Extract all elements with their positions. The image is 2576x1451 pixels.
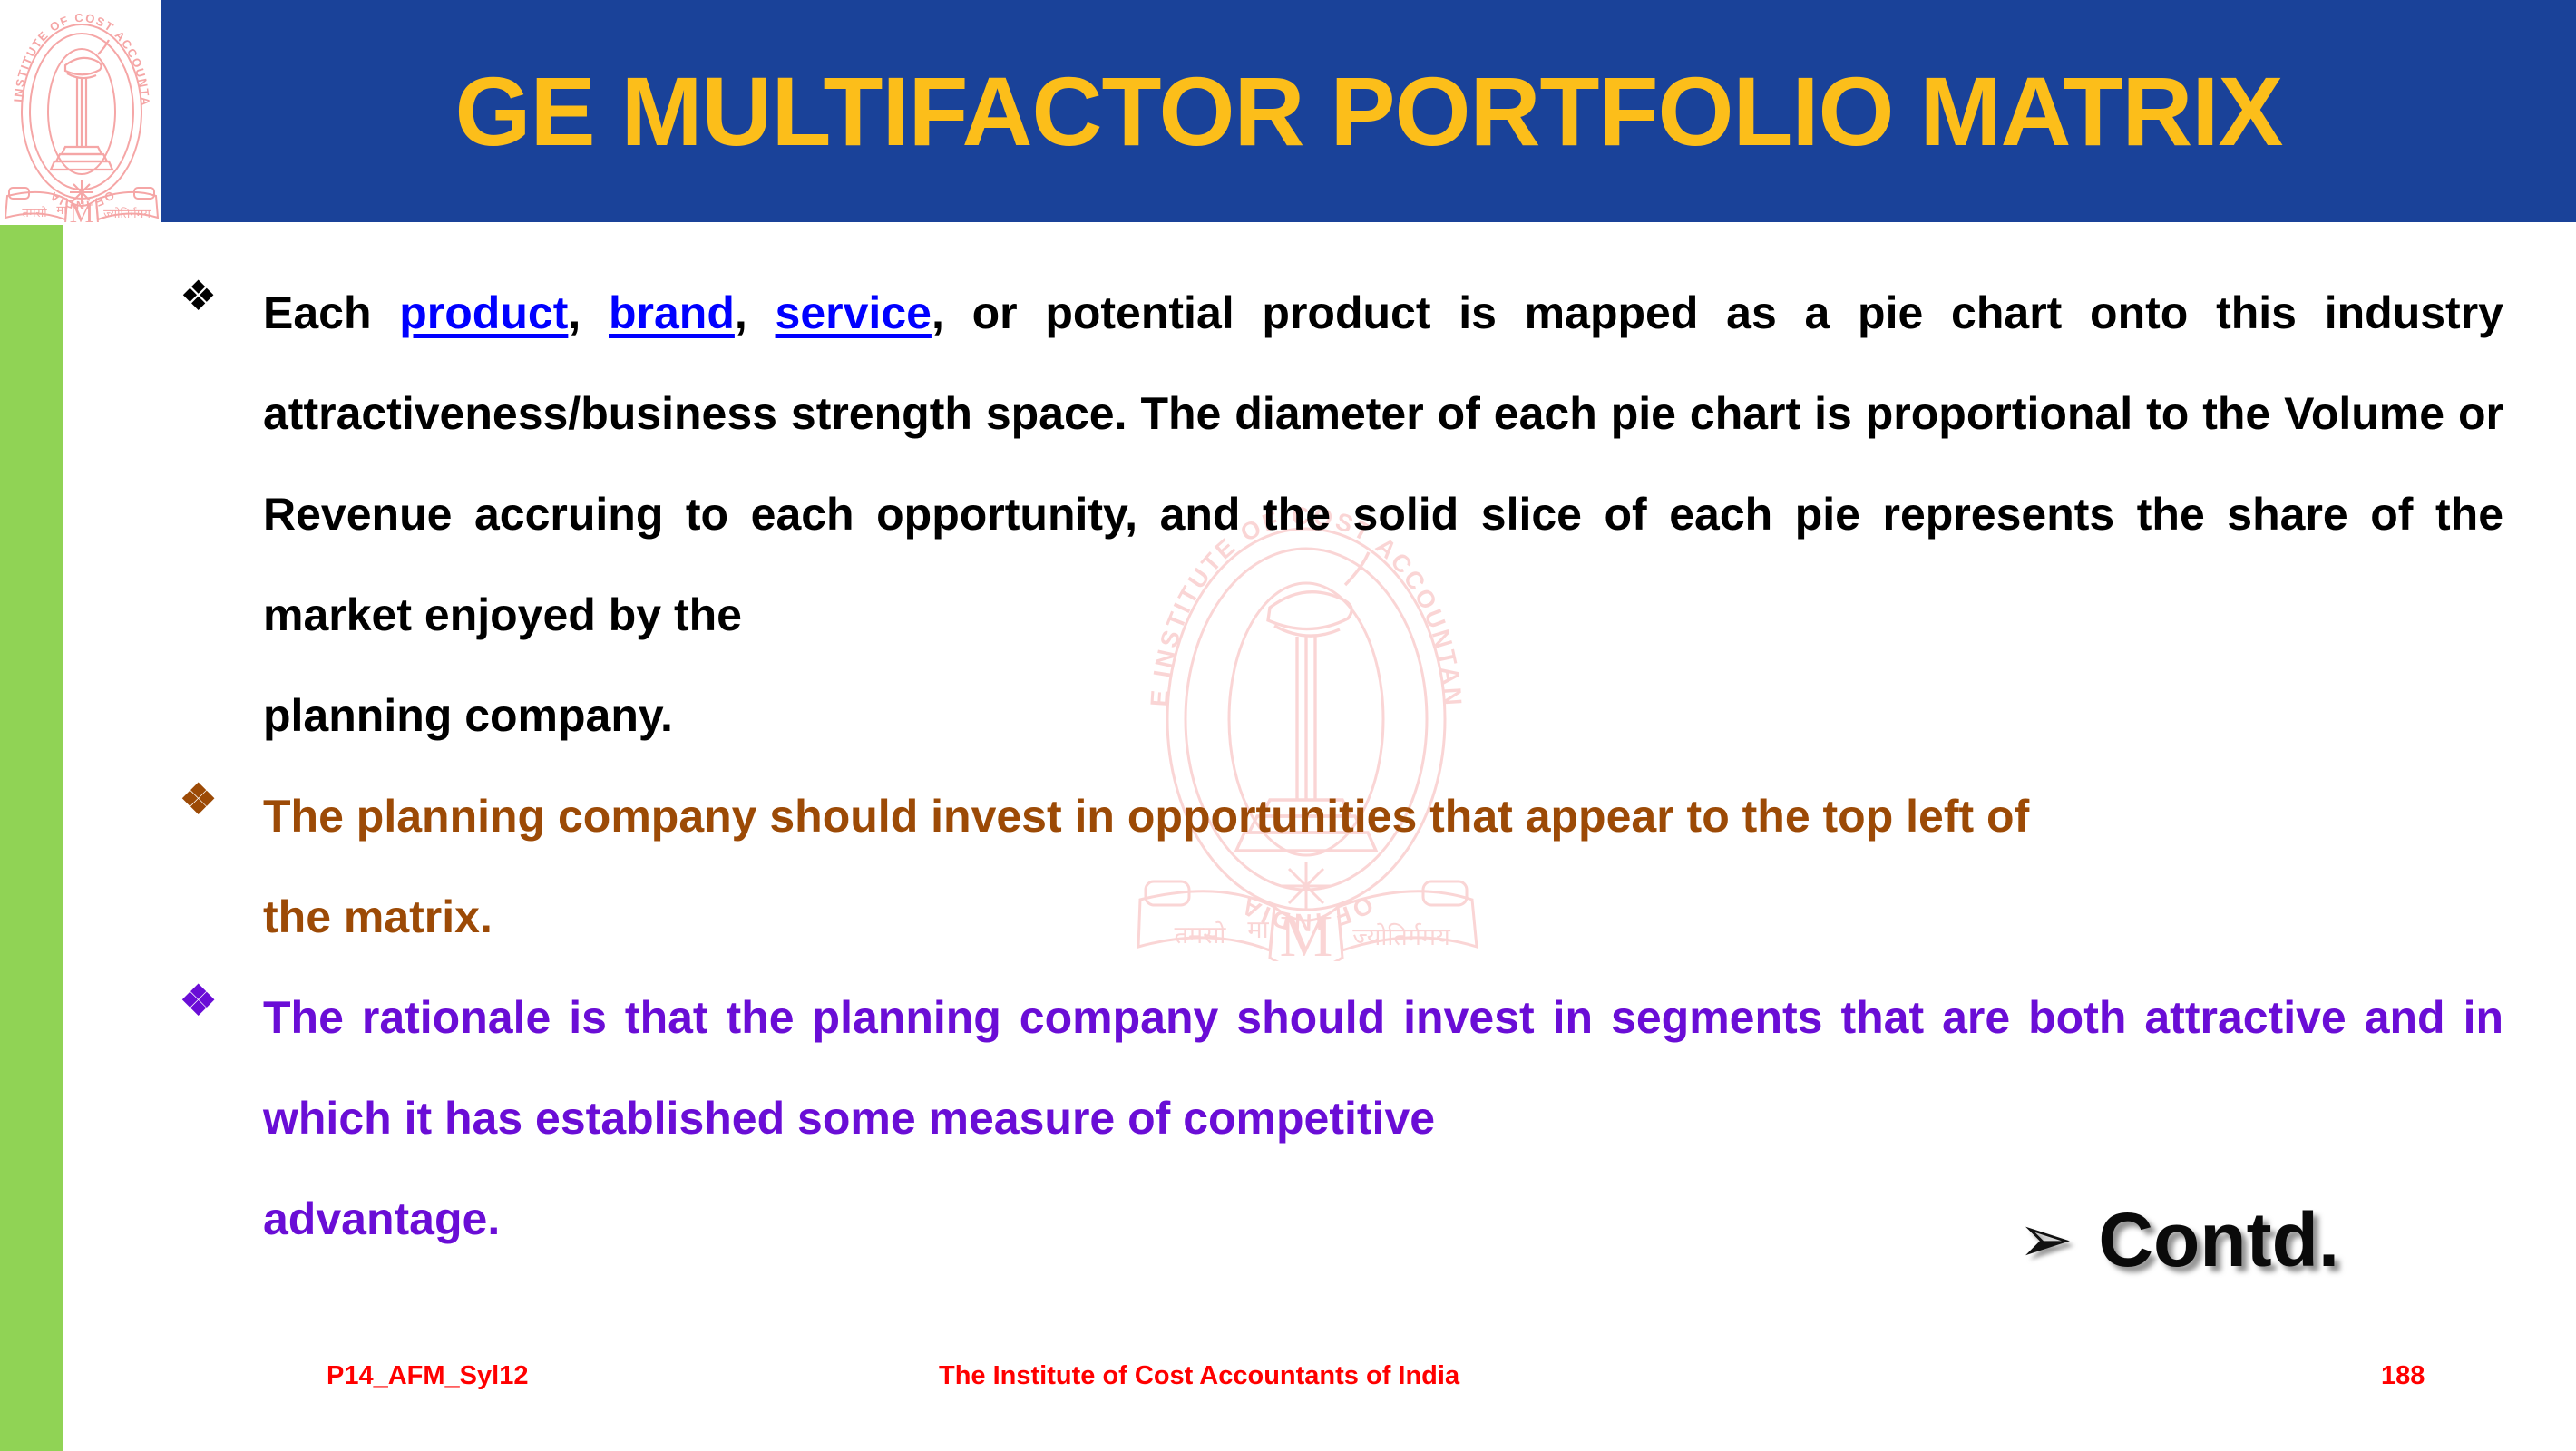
continued-indicator: ➢ Contd. — [2018, 1202, 2339, 1278]
continued-label: Contd. — [2098, 1202, 2339, 1278]
footer-organization: The Institute of Cost Accountants of Ind… — [939, 1361, 1459, 1391]
bullet2-seg-0: The planning company should invest in op… — [263, 791, 2029, 842]
logo-banner-left: तमसो — [22, 206, 47, 219]
footer: P14_AFM_Syl12 The Institute of Cost Acco… — [0, 1356, 2576, 1406]
bullet1-seg-4: , — [735, 287, 776, 338]
bullet-item-2: ❖ The planning company should invest in … — [172, 766, 2503, 968]
arrow-right-icon: ➢ — [2018, 1207, 2073, 1272]
bullet-marker-icon: ❖ — [172, 263, 263, 328]
bullet-item-1: ❖ Each product, brand, service, or poten… — [172, 263, 2503, 766]
bullet1-tail: planning company. — [263, 666, 2503, 766]
logo-banner-mid: मा — [56, 203, 67, 217]
bullet1-seg-2: , — [568, 287, 609, 338]
page-title: GE MULTIFACTOR PORTFOLIO MATRIX — [161, 0, 2576, 222]
bullet1-seg-6: , or potential product is mapped as a pi… — [263, 287, 2503, 640]
logo-banner-letter: M — [70, 199, 94, 222]
footer-page-number: 188 — [2381, 1361, 2425, 1391]
bullet-marker-icon: ❖ — [172, 968, 263, 1033]
link-brand[interactable]: brand — [609, 287, 735, 338]
logo-banner-right: ज्योतिर्गमय — [103, 207, 151, 220]
bullet1-seg-0: Each — [263, 287, 399, 338]
left-green-strip — [0, 225, 63, 1451]
bullet2-tail: the matrix. — [263, 867, 2503, 968]
institute-seal-logo: THE INSTITUTE OF COST ACCOUNTANTS OF IND… — [2, 2, 161, 222]
bullet-marker-icon: ❖ — [172, 766, 263, 832]
bullet-text-2: The planning company should invest in op… — [263, 766, 2503, 968]
link-product[interactable]: product — [399, 287, 568, 338]
bullet-text-1: Each product, brand, service, or potenti… — [263, 263, 2503, 766]
link-service[interactable]: service — [776, 287, 932, 338]
slide-body: ❖ Each product, brand, service, or poten… — [172, 263, 2503, 1297]
bullet3-seg-0: The rationale is that the planning compa… — [263, 992, 2503, 1144]
footer-subject-code: P14_AFM_Syl12 — [327, 1361, 528, 1391]
